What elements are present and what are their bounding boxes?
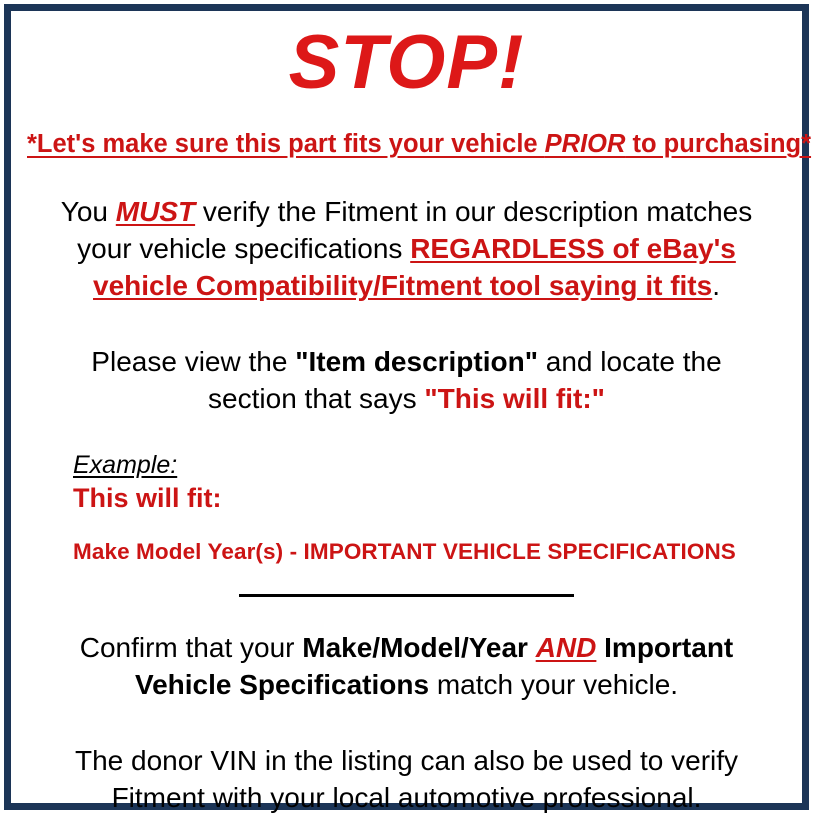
example-spec-line: Make Model Year(s) - IMPORTANT VEHICLE S… <box>73 538 786 565</box>
item-description-emphasis: "Item description" <box>295 346 538 377</box>
confirm-paragraph-part1: Confirm that your <box>80 632 303 663</box>
subheadline: *Let's make sure this part fits your veh… <box>27 129 786 161</box>
example-fit-heading: This will fit: <box>73 482 786 514</box>
this-will-fit-emphasis: "This will fit:" <box>424 383 605 414</box>
fitment-notice-card: STOP! *Let's make sure this part fits yo… <box>0 0 813 814</box>
confirm-paragraph-part2: match your vehicle. <box>429 669 678 700</box>
example-label: Example: <box>73 451 786 480</box>
view-description-paragraph: Please view the "Item description" and l… <box>27 343 786 417</box>
notice-content: STOP! *Let's make sure this part fits yo… <box>11 11 802 803</box>
subheadline-lead: *Let's make sure this part fits your veh… <box>27 130 545 158</box>
divider <box>27 587 786 599</box>
make-model-year-emphasis: Make/Model/Year <box>302 632 528 663</box>
must-paragraph-part1: You <box>61 196 116 227</box>
notice-border-frame: STOP! *Let's make sure this part fits yo… <box>4 4 809 810</box>
must-verify-paragraph: You MUST verify the Fitment in our descr… <box>27 193 786 305</box>
confirm-paragraph: Confirm that your Make/Model/Year AND Im… <box>27 629 786 703</box>
subheadline-emphasis: PRIOR <box>545 130 626 158</box>
example-block: Example: This will fit: Make Model Year(… <box>27 451 786 565</box>
donor-vin-paragraph: The donor VIN in the listing can also be… <box>27 742 786 814</box>
must-paragraph-part3: . <box>712 270 720 301</box>
subheadline-tail: to purchasing* <box>625 130 811 158</box>
must-emphasis: MUST <box>116 196 195 227</box>
horizontal-rule-icon <box>239 594 574 597</box>
view-paragraph-part1: Please view the <box>91 346 295 377</box>
page-title: STOP! <box>27 25 786 101</box>
and-emphasis: AND <box>536 632 597 663</box>
